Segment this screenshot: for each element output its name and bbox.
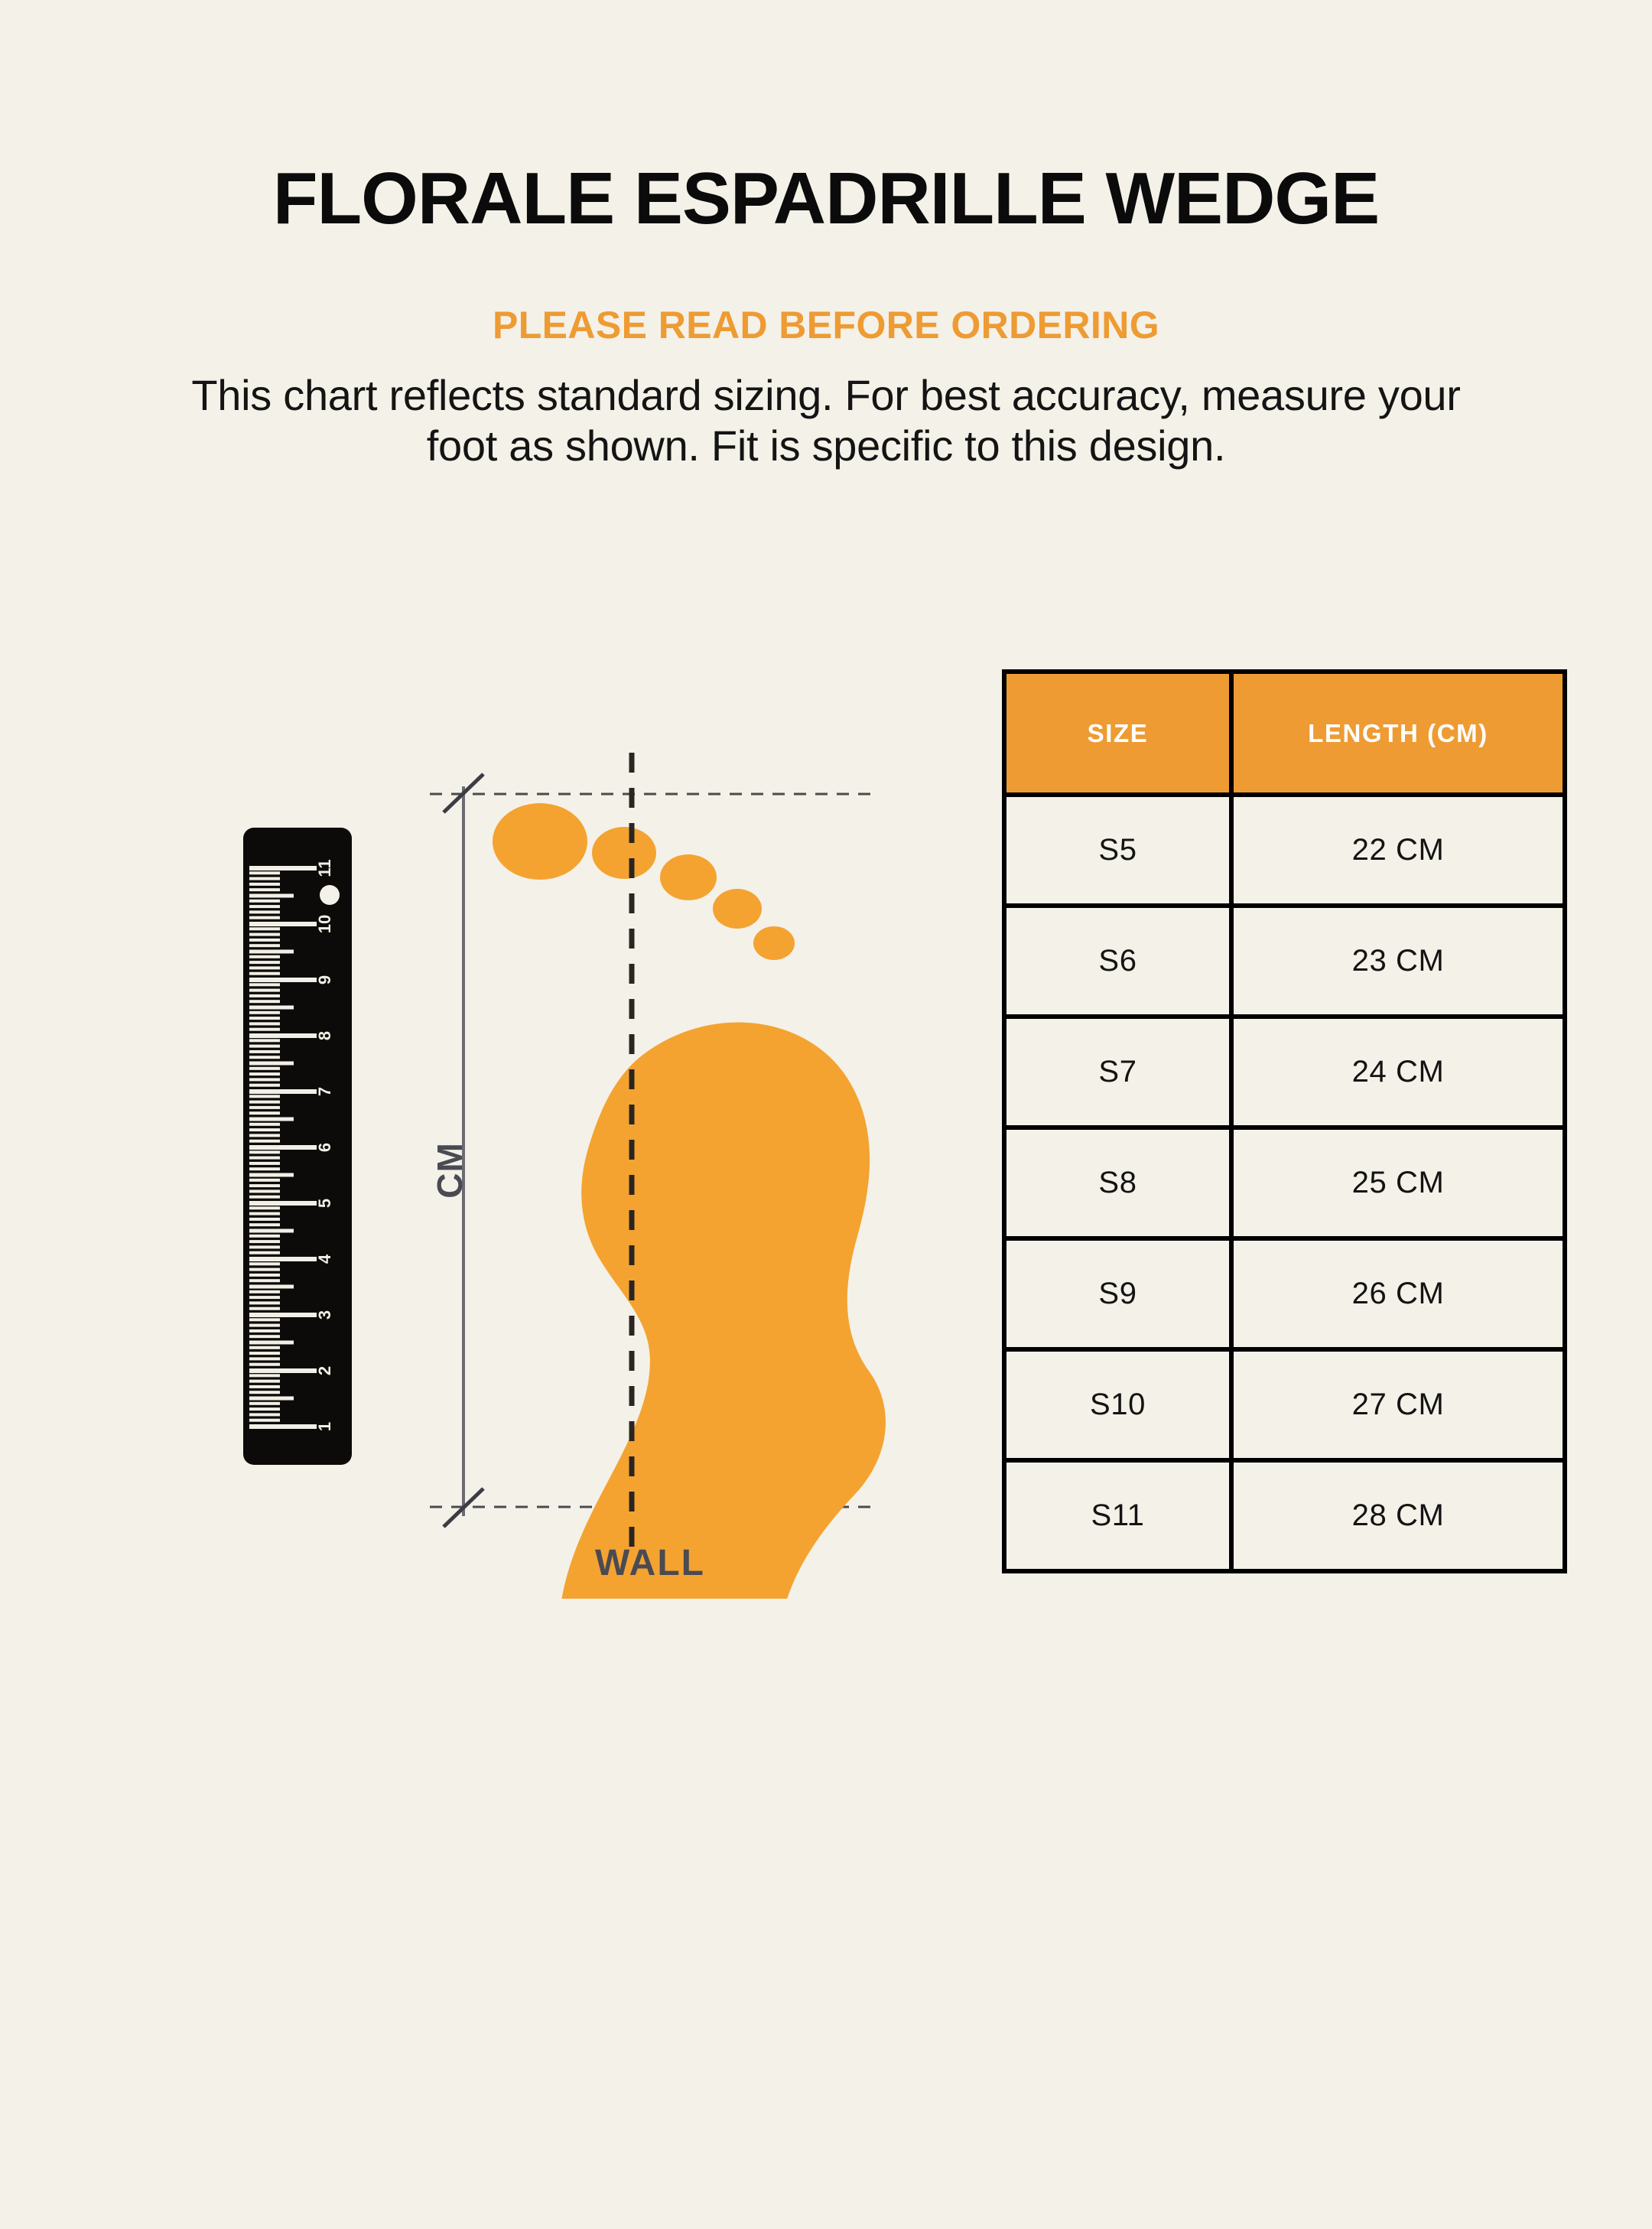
ruler-number-4: 4 bbox=[315, 1254, 334, 1264]
cell-length: 27 CM bbox=[1231, 1349, 1565, 1460]
table-row: S6 23 CM bbox=[1004, 906, 1565, 1017]
size-chart-table: SIZE LENGTH (CM) S5 22 CM S6 23 CM S7 24… bbox=[1002, 669, 1567, 1573]
table-row: S9 26 CM bbox=[1004, 1238, 1565, 1349]
wall-label: WALL bbox=[405, 1542, 895, 1584]
ruler-number-9: 9 bbox=[315, 975, 334, 984]
table-row: S7 24 CM bbox=[1004, 1017, 1565, 1128]
cell-length: 23 CM bbox=[1231, 906, 1565, 1017]
intro-description: This chart reflects standard sizing. For… bbox=[153, 344, 1499, 470]
toe-4 bbox=[713, 889, 762, 929]
cm-label: CM bbox=[430, 1142, 470, 1199]
foot-sole-shape bbox=[558, 1023, 886, 1599]
cell-length: 25 CM bbox=[1231, 1128, 1565, 1238]
table-row: S8 25 CM bbox=[1004, 1128, 1565, 1238]
size-chart-table-wrapper: SIZE LENGTH (CM) S5 22 CM S6 23 CM S7 24… bbox=[1002, 669, 1563, 1573]
cell-size: S10 bbox=[1004, 1349, 1231, 1460]
cell-size: S8 bbox=[1004, 1128, 1231, 1238]
column-header-length: LENGTH (CM) bbox=[1231, 672, 1565, 795]
ruler-number-10: 10 bbox=[315, 915, 334, 933]
cell-size: S7 bbox=[1004, 1017, 1231, 1128]
ruler-graphic: 11 10 9 8 7 6 5 4 3 2 1 bbox=[243, 828, 352, 2229]
ruler-number-7: 7 bbox=[315, 1087, 334, 1096]
cell-size: S11 bbox=[1004, 1460, 1231, 1571]
header-block: FLORALE ESPADRILLE WEDGE PLEASE READ BEF… bbox=[0, 0, 1652, 470]
table-body: S5 22 CM S6 23 CM S7 24 CM S8 25 CM S9 2… bbox=[1004, 795, 1565, 1571]
table-row: S10 27 CM bbox=[1004, 1349, 1565, 1460]
toe-2 bbox=[592, 827, 656, 879]
read-before-ordering-notice: PLEASE READ BEFORE ORDERING bbox=[0, 236, 1652, 344]
ruler-number-11: 11 bbox=[315, 859, 334, 877]
ruler-number-1: 1 bbox=[315, 1422, 334, 1431]
ruler-number-8: 8 bbox=[315, 1031, 334, 1040]
cell-length: 24 CM bbox=[1231, 1017, 1565, 1128]
cell-length: 28 CM bbox=[1231, 1460, 1565, 1571]
cell-size: S5 bbox=[1004, 795, 1231, 906]
table-header-row: SIZE LENGTH (CM) bbox=[1004, 672, 1565, 795]
foot-measurement-diagram: CM bbox=[405, 742, 895, 1599]
toe-1-big bbox=[493, 803, 587, 880]
toe-3 bbox=[660, 854, 717, 900]
table-row: S5 22 CM bbox=[1004, 795, 1565, 906]
table-row: S11 28 CM bbox=[1004, 1460, 1565, 1571]
cell-length: 22 CM bbox=[1231, 795, 1565, 906]
ruler-number-2: 2 bbox=[315, 1366, 334, 1375]
cell-size: S6 bbox=[1004, 906, 1231, 1017]
ruler-number-3: 3 bbox=[315, 1310, 334, 1320]
cell-length: 26 CM bbox=[1231, 1238, 1565, 1349]
page-title: FLORALE ESPADRILLE WEDGE bbox=[0, 0, 1652, 236]
cell-size: S9 bbox=[1004, 1238, 1231, 1349]
ruler-number-6: 6 bbox=[315, 1143, 334, 1152]
ruler-number-5: 5 bbox=[315, 1199, 334, 1208]
toe-5-small bbox=[753, 926, 795, 960]
column-header-size: SIZE bbox=[1004, 672, 1231, 795]
